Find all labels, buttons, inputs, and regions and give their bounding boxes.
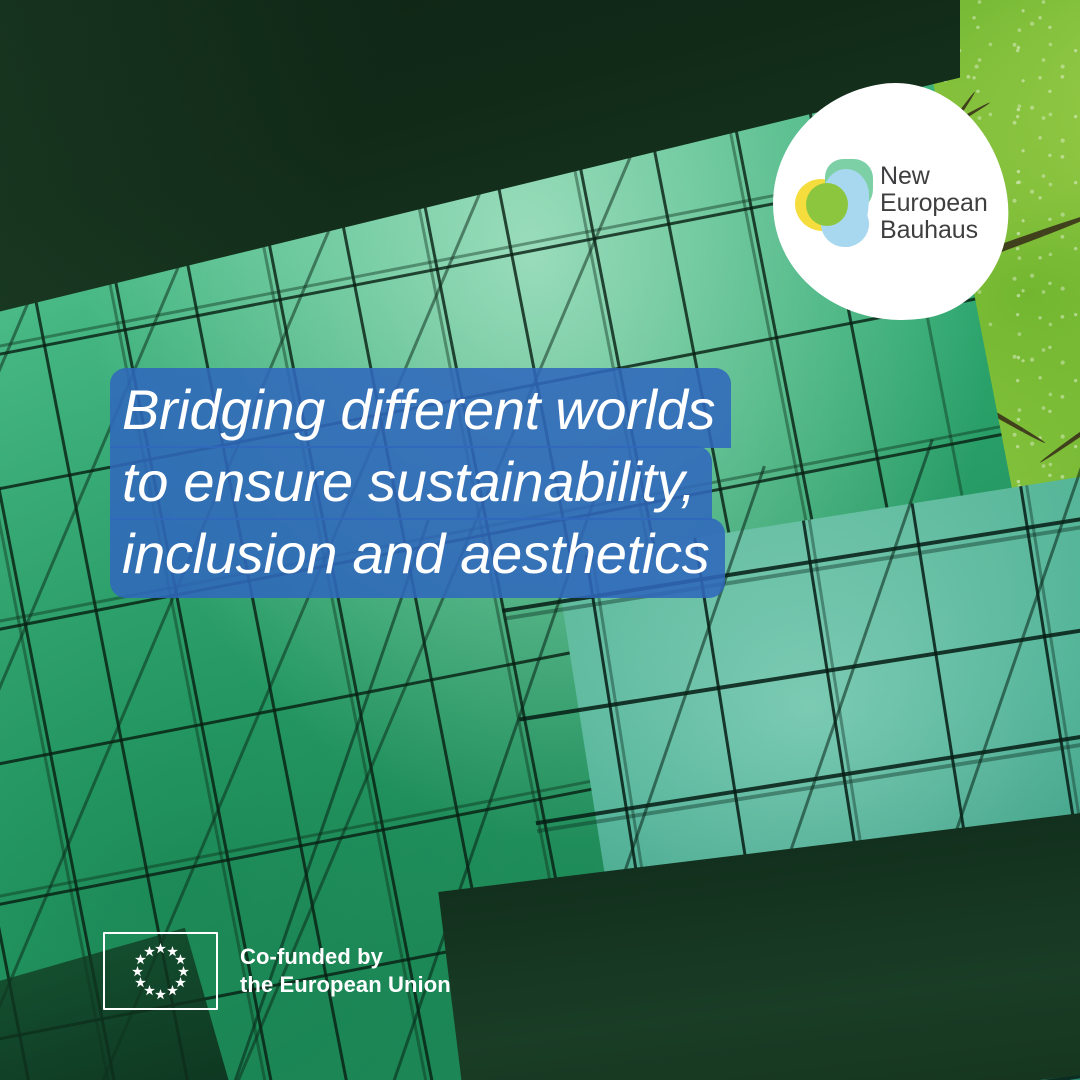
eu-badge-line-2: the European Union <box>240 971 451 999</box>
neb-blobs-icon <box>795 157 873 249</box>
poster-canvas: New European Bauhaus Bridging different … <box>0 0 1080 1080</box>
headline-line-3: inclusion and aesthetics <box>110 518 725 598</box>
eu-flag-star <box>155 989 166 1000</box>
eu-flag-star <box>178 966 189 977</box>
eu-flag-star <box>135 977 146 988</box>
eu-flag-star <box>144 946 155 957</box>
headline-line-1: Bridging different worlds <box>110 368 731 448</box>
eu-badge-text: Co-funded by the European Union <box>240 943 451 999</box>
eu-flag-star <box>175 954 186 965</box>
new-european-bauhaus-logo[interactable]: New European Bauhaus <box>773 84 1007 322</box>
eu-flag-star <box>155 943 166 954</box>
headline-line-2: to ensure sustainability, <box>110 446 712 520</box>
logo-wordmark-line-1: New <box>880 163 988 190</box>
headline-banner: Bridging different worlds to ensure sust… <box>110 368 731 598</box>
logo-wordmark: New European Bauhaus <box>880 163 988 244</box>
logo-blob-green <box>806 183 848 226</box>
eu-cofunded-badge: Co-funded by the European Union <box>103 932 451 1010</box>
logo-wordmark-line-3: Bauhaus <box>880 217 988 244</box>
logo-wordmark-line-2: European <box>880 190 988 217</box>
eu-flag-star <box>167 985 178 996</box>
eu-badge-line-1: Co-funded by <box>240 943 451 971</box>
eu-flag-icon <box>103 932 218 1010</box>
eu-flag-star <box>132 966 143 977</box>
canopy-branch <box>1039 346 1080 465</box>
